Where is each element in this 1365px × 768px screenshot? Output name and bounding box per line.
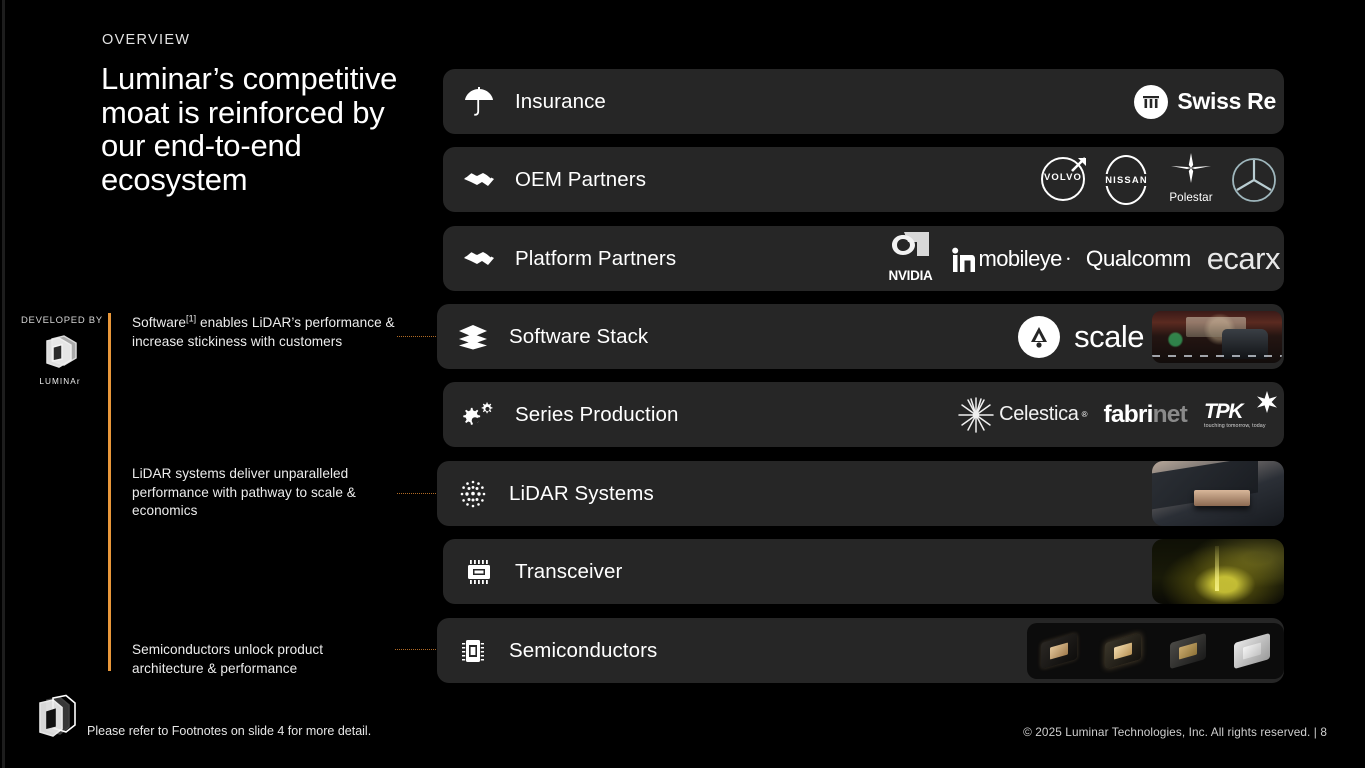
scale-ai-logo: scale (1018, 316, 1144, 358)
row-logos (1027, 618, 1284, 683)
annotation-software-text-before: Software (132, 315, 186, 330)
row-label: Transceiver (515, 560, 622, 584)
ecarx-logo: ecarx (1207, 241, 1280, 277)
row-label: Semiconductors (509, 639, 657, 663)
swiss-re-logo: Swiss Re (1134, 85, 1276, 119)
row-software-stack[interactable]: Software Stack scale (437, 304, 1284, 369)
row-label: Series Production (515, 403, 679, 427)
handshake-icon (443, 167, 515, 193)
luminar-wordmark: LUMINAr (38, 377, 82, 386)
mobileye-trademark: • (1067, 254, 1070, 264)
tpk-logo: TPK touching tomorrow, today (1204, 400, 1276, 429)
leader-line-lidar (397, 493, 438, 494)
tpk-star-icon (1256, 391, 1278, 418)
street-car (1222, 329, 1268, 359)
row-platform-partners[interactable]: Platform Partners NVIDIA (443, 226, 1284, 291)
volvo-wordmark: VOLVO (1039, 172, 1087, 183)
annotation-software: Software[1] enables LiDAR’s performance … (132, 314, 398, 351)
row-logos (1152, 539, 1284, 604)
umbrella-icon (443, 86, 515, 118)
row-logos: scale (1018, 304, 1284, 369)
row-label: Software Stack (509, 325, 648, 349)
scale-wordmark: scale (1074, 319, 1144, 355)
annotation-lidar: LiDAR systems deliver unparalleled perfo… (132, 465, 376, 521)
mobileye-mark-icon (952, 247, 974, 271)
chip-2 (1100, 634, 1146, 668)
row-insurance[interactable]: Insurance Swiss Re (443, 69, 1284, 134)
handshake-icon (443, 246, 515, 272)
row-logos: Swiss Re (1134, 69, 1284, 134)
luminar-cube-icon (38, 334, 82, 375)
tpk-tagline: touching tomorrow, today (1204, 423, 1276, 429)
celestica-trademark: ® (1082, 410, 1088, 419)
nissan-wordmark: NISSAN (1099, 174, 1154, 185)
swiss-re-wordmark: Swiss Re (1177, 88, 1276, 115)
slide-canvas: OVERVIEW Luminar’s competitive moat is r… (0, 0, 1365, 768)
mobileye-wordmark: mobileye (979, 246, 1062, 272)
row-logos (1152, 461, 1284, 526)
chip-dip-icon (443, 558, 515, 586)
laser-transceiver-image (1152, 539, 1284, 604)
fabrinet-wordmark-b: net (1153, 401, 1187, 428)
fabrinet-logo: fabrinet (1104, 401, 1187, 429)
accent-rail (108, 313, 111, 671)
fabrinet-wordmark-a: fabri (1104, 401, 1153, 428)
row-oem-partners[interactable]: OEM Partners VOLVO NISSAN (443, 147, 1284, 212)
lidar-unit (1194, 490, 1249, 507)
row-lidar-systems[interactable]: LiDAR Systems (437, 461, 1284, 526)
night-street-scene-image (1152, 311, 1282, 363)
annotation-semiconductors: Semiconductors unlock product architectu… (132, 641, 388, 678)
layers-icon (437, 324, 509, 350)
scale-mark-icon (1018, 316, 1060, 358)
microchip-icon (437, 636, 509, 666)
copyright-text: © 2025 Luminar Technologies, Inc. All ri… (1023, 725, 1327, 739)
row-transceiver[interactable]: Transceiver (443, 539, 1284, 604)
celestica-burst-icon (956, 395, 996, 435)
row-logos: Celestica ® fabrinet TPK touching tomorr… (956, 382, 1284, 447)
nvidia-logo: NVIDIA (882, 232, 940, 285)
left-edge-rule (2, 0, 5, 768)
swiss-re-mark-icon (1134, 85, 1168, 119)
nvidia-wordmark: NVIDIA (889, 268, 933, 283)
semiconductor-chips-image (1027, 623, 1284, 679)
mercedes-benz-logo (1230, 156, 1278, 204)
leader-line-semiconductors (395, 649, 442, 650)
row-label: LiDAR Systems (509, 482, 654, 506)
chip-3 (1165, 634, 1211, 668)
lidar-sensor-on-vehicle-image (1152, 461, 1284, 526)
row-label: OEM Partners (515, 168, 646, 192)
row-logos: NVIDIA mobileye • Qualcomm ecarx (882, 226, 1285, 291)
laser-beam (1215, 546, 1219, 592)
row-logos: VOLVO NISSAN Polestar (1039, 147, 1284, 212)
celestica-logo: Celestica ® (956, 395, 1087, 435)
row-label: Insurance (515, 90, 606, 114)
celestica-wordmark: Celestica (999, 403, 1079, 426)
chip-1 (1036, 634, 1082, 668)
eyebrow-label: OVERVIEW (102, 32, 190, 48)
nissan-logo: NISSAN (1099, 154, 1154, 206)
polestar-star-icon (1162, 153, 1220, 188)
developed-by-label: DEVELOPED BY (21, 315, 103, 326)
row-semiconductors[interactable]: Semiconductors (437, 618, 1284, 683)
gears-icon (443, 400, 515, 430)
polestar-logo: Polestar (1162, 153, 1220, 206)
row-label: Platform Partners (515, 247, 676, 271)
qualcomm-logo: Qualcomm (1086, 246, 1191, 272)
chip-4 (1229, 634, 1275, 668)
mobileye-logo: mobileye • (952, 246, 1070, 272)
nvidia-eye-icon (882, 232, 940, 267)
luminar-footer-logo (33, 694, 77, 747)
footnote-text: Please refer to Footnotes on slide 4 for… (87, 724, 371, 738)
footnote-marker: [1] (186, 313, 196, 323)
luminar-brand-block: LUMINAr (38, 334, 82, 386)
row-series-production[interactable]: Series Production Celestic (443, 382, 1284, 447)
page-title: Luminar’s competitive moat is reinforced… (101, 62, 431, 196)
leader-line-software (397, 336, 442, 337)
point-cloud-icon (437, 479, 509, 509)
volvo-logo: VOLVO (1039, 155, 1089, 205)
polestar-wordmark: Polestar (1169, 191, 1212, 204)
